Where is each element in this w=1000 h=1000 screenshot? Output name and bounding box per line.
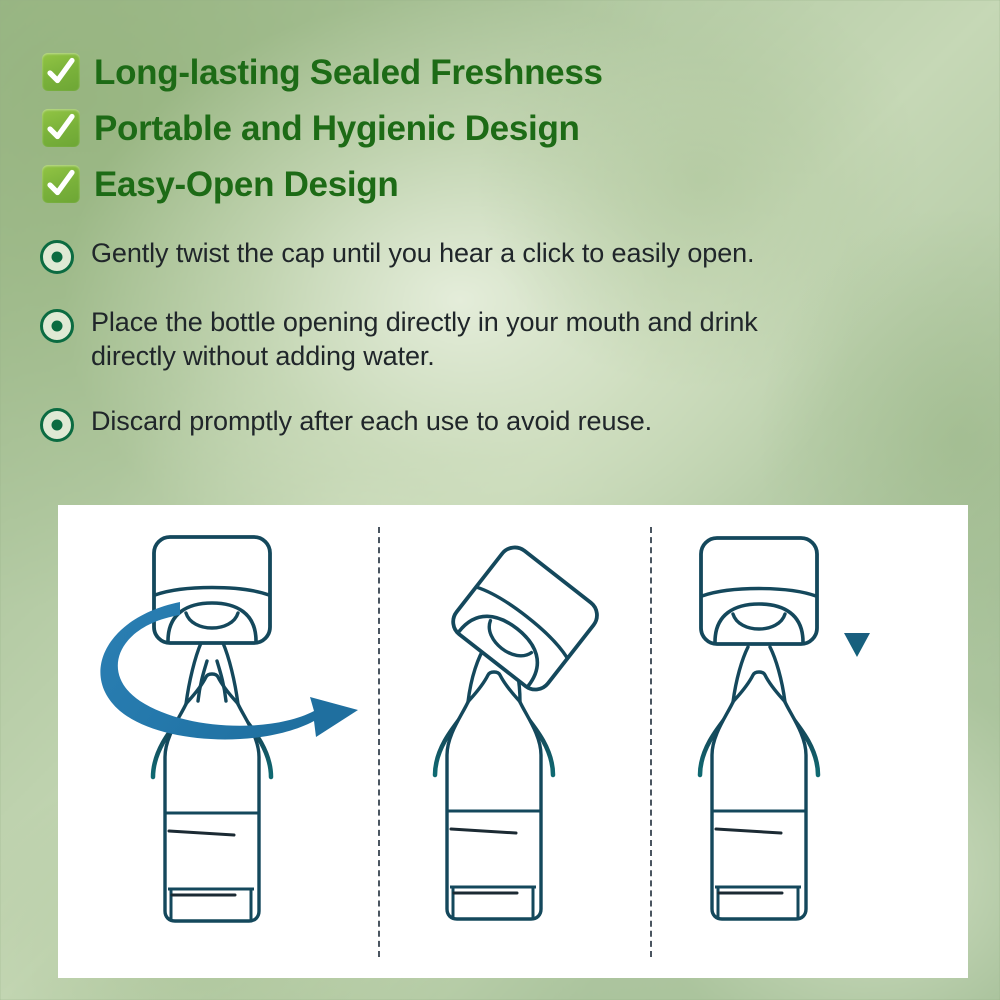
feature-list: Long-lasting Sealed Freshness Portable a…	[42, 44, 902, 212]
feature-item: Portable and Hygienic Design	[42, 100, 902, 156]
bottle-twist-cap-illustration	[58, 505, 378, 978]
check-square-icon	[42, 53, 80, 91]
check-square-icon	[42, 165, 80, 203]
illustration-step-3	[652, 505, 968, 978]
illustration-panel	[58, 505, 968, 978]
instruction-item: Gently twist the cap until you hear a cl…	[40, 236, 840, 274]
feature-item: Long-lasting Sealed Freshness	[42, 44, 902, 100]
radio-dot-icon	[40, 408, 74, 442]
instruction-text: Gently twist the cap until you hear a cl…	[91, 236, 754, 270]
instruction-item: Discard promptly after each use to avoid…	[40, 404, 840, 442]
illustration-step-1	[58, 505, 378, 978]
radio-dot-icon	[40, 309, 74, 343]
instruction-text: Place the bottle opening directly in you…	[91, 305, 811, 373]
instruction-item: Place the bottle opening directly in you…	[40, 305, 840, 373]
check-square-icon	[42, 109, 80, 147]
feature-label: Long-lasting Sealed Freshness	[94, 55, 603, 90]
bottle-cap-removed-illustration	[380, 505, 650, 978]
instruction-text: Discard promptly after each use to avoid…	[91, 404, 652, 438]
feature-label: Portable and Hygienic Design	[94, 111, 580, 146]
illustration-step-2	[380, 505, 650, 978]
instruction-list: Gently twist the cap until you hear a cl…	[40, 236, 840, 473]
radio-dot-icon	[40, 240, 74, 274]
arrow-down-icon	[844, 583, 870, 657]
feature-label: Easy-Open Design	[94, 167, 398, 202]
bottle-cap-press-down-illustration	[652, 505, 968, 978]
feature-item: Easy-Open Design	[42, 156, 902, 212]
